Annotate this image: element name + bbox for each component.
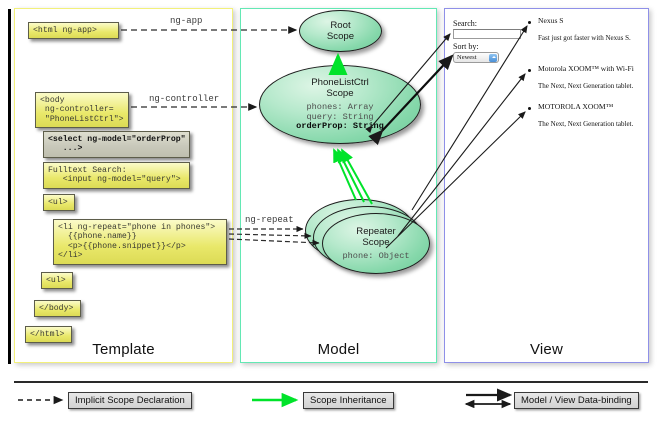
model-column: Model bbox=[240, 8, 437, 363]
sort-by-select-value: Newest bbox=[457, 54, 477, 61]
edge-label-ng-controller: ng-controller bbox=[147, 94, 221, 104]
phonelistctrl-title-1: PhoneListCtrl bbox=[311, 77, 369, 88]
phonelistctrl-scope-ellipse: PhoneListCtrl Scope phones: Array query:… bbox=[259, 65, 421, 144]
view-search-label: Search: bbox=[453, 19, 477, 28]
view-sort-label: Sort by: bbox=[453, 42, 479, 51]
legend-implicit-scope-declaration: Implicit Scope Declaration bbox=[68, 392, 192, 409]
left-black-rule bbox=[8, 9, 11, 364]
legend-model-view-data-binding: Model / View Data-binding bbox=[514, 392, 639, 409]
phone-snippet: Fast just got faster with Nexus S. bbox=[538, 34, 631, 42]
phone-name[interactable]: Motorola XOOM™ with Wi-Fi bbox=[538, 64, 634, 73]
repeater-scope-var-phone: phone: Object bbox=[342, 252, 409, 262]
root-scope-title-1: Root bbox=[330, 20, 350, 31]
phone-name[interactable]: Nexus S bbox=[538, 16, 564, 25]
edge-label-ng-repeat: ng-repeat bbox=[243, 215, 296, 225]
list-bullet bbox=[528, 107, 531, 110]
code-box-html-tag: <html ng-app> bbox=[28, 22, 119, 39]
diagram-canvas: Template <html ng-app> <body ng-controll… bbox=[0, 0, 661, 425]
code-box-body-close-tag: </body> bbox=[34, 300, 81, 317]
code-box-html-close-tag: </html> bbox=[25, 326, 72, 343]
repeater-scope-title-2: Scope bbox=[362, 237, 389, 248]
search-input[interactable] bbox=[453, 29, 521, 39]
root-scope-title-2: Scope bbox=[327, 31, 354, 42]
list-bullet bbox=[528, 21, 531, 24]
repeater-scope-title-1: Repeater bbox=[356, 226, 395, 237]
sort-by-select[interactable]: Newest bbox=[453, 52, 499, 63]
repeater-scope-ellipse: Repeater Scope phone: Object bbox=[322, 213, 430, 274]
list-bullet bbox=[528, 69, 531, 72]
phone-snippet: The Next, Next Generation tablet. bbox=[538, 120, 633, 128]
code-box-li-repeat-tag: <li ng-repeat="phone in phones"> {{phone… bbox=[53, 219, 227, 265]
phonelistctrl-var-orderprop: orderProp: String bbox=[296, 121, 384, 131]
template-column-label: Template bbox=[15, 341, 232, 358]
code-box-input-tag: Fulltext Search: <input ng-model="query"… bbox=[43, 162, 190, 189]
view-column-label: View bbox=[445, 341, 648, 358]
model-column-label: Model bbox=[241, 341, 436, 358]
phone-snippet: The Next, Next Generation tablet. bbox=[538, 82, 633, 90]
code-box-body-tag: <body ng-controller= "PhoneListCtrl"> bbox=[35, 92, 129, 128]
chevron-down-icon bbox=[489, 54, 497, 62]
phone-name[interactable]: MOTOROLA XOOM™ bbox=[538, 102, 613, 111]
legend-scope-inheritance: Scope Inheritance bbox=[303, 392, 394, 409]
legend-divider bbox=[14, 381, 648, 383]
code-box-ul-close-tag: <ul> bbox=[41, 272, 73, 289]
code-box-ul-open-tag: <ul> bbox=[43, 194, 75, 211]
root-scope-ellipse: Root Scope bbox=[299, 10, 382, 52]
phonelistctrl-title-2: Scope bbox=[326, 88, 353, 99]
edge-label-ng-app: ng-app bbox=[168, 16, 204, 26]
code-box-select-tag: <select ng-model="orderProp" ...> bbox=[43, 131, 190, 158]
